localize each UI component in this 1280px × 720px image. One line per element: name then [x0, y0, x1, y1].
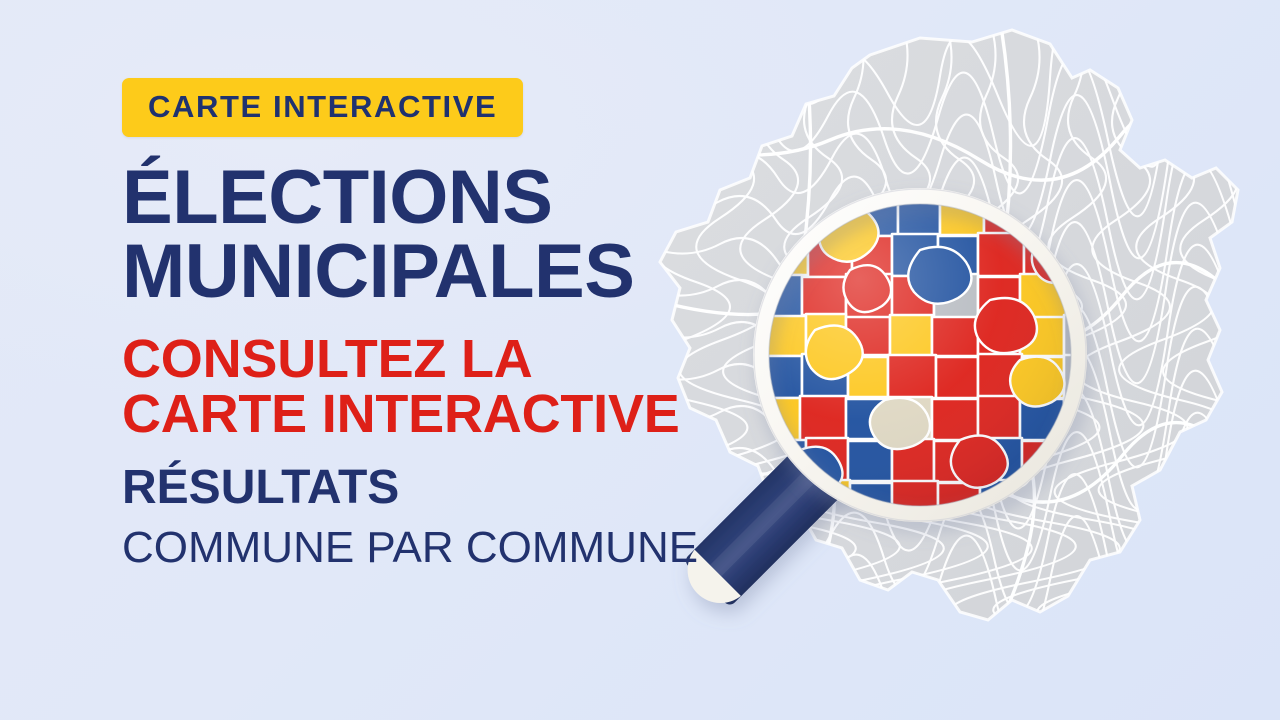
- subhead-line-2: CARTE INTERACTIVE: [122, 387, 782, 442]
- results-subtitle: COMMUNE PAR COMMUNE: [122, 526, 782, 570]
- headline-line-1: ÉLECTIONS: [122, 155, 552, 240]
- subhead-line-1: CONSULTEZ LA: [122, 329, 533, 389]
- promo-banner: CARTE INTERACTIVE ÉLECTIONS MUNICIPALES …: [0, 0, 1280, 720]
- call-to-action-text: CONSULTEZ LA CARTE INTERACTIVE: [122, 332, 782, 442]
- carte-interactive-badge[interactable]: CARTE INTERACTIVE: [122, 78, 523, 137]
- promo-text-column: CARTE INTERACTIVE ÉLECTIONS MUNICIPALES …: [122, 78, 782, 570]
- results-title: RÉSULTATS: [122, 464, 782, 512]
- headline-line-2: MUNICIPALES: [122, 235, 782, 309]
- page-title: ÉLECTIONS MUNICIPALES: [122, 161, 782, 310]
